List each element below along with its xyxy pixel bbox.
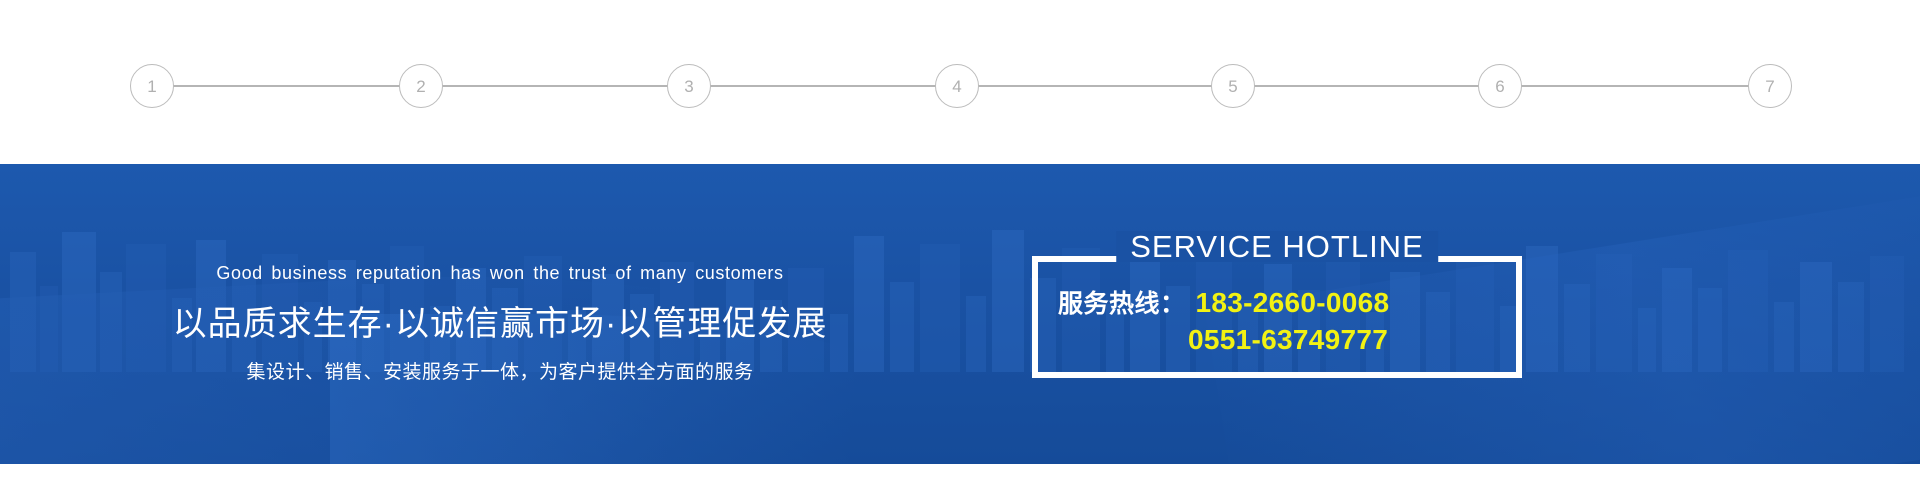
stepper-step-label: 4 [952, 78, 961, 95]
hotline-numbers: 服务热线： 183-2660-0068 0551-63749777 [1032, 284, 1522, 356]
hotline-number-secondary[interactable]: 0551-63749777 [1188, 324, 1388, 356]
stepper-step-2[interactable]: 2 [399, 64, 443, 108]
stepper-step-label: 3 [684, 78, 693, 95]
stepper-step-7[interactable]: 7 [1748, 64, 1792, 108]
promo-banner: Good business reputation has won the tru… [0, 164, 1920, 464]
stepper-step-label: 1 [147, 78, 156, 95]
hotline-row-secondary: 0551-63749777 [1058, 324, 1522, 356]
stepper-step-5[interactable]: 5 [1211, 64, 1255, 108]
page-root: 1 2 3 4 5 6 7 [0, 0, 1920, 500]
hotline-row-primary: 服务热线： 183-2660-0068 [1058, 284, 1522, 320]
stepper-step-3[interactable]: 3 [667, 64, 711, 108]
stepper-step-label: 7 [1765, 78, 1774, 95]
stepper-step-4[interactable]: 4 [935, 64, 979, 108]
hotline-number-primary[interactable]: 183-2660-0068 [1196, 287, 1390, 319]
service-hotline-box: SERVICE HOTLINE 服务热线： 183-2660-0068 0551… [1032, 256, 1522, 378]
hotline-title: SERVICE HOTLINE [1116, 231, 1438, 262]
stepper-step-label: 6 [1495, 78, 1504, 95]
hotline-label: 服务热线： [1058, 284, 1186, 320]
stepper-step-label: 5 [1228, 78, 1237, 95]
slogan-subtext: 集设计、销售、安装服务于一体，为客户提供全方面的服务 [246, 357, 753, 384]
stepper-step-6[interactable]: 6 [1478, 64, 1522, 108]
slogan-block: Good business reputation has won the tru… [0, 164, 1000, 464]
slogan-headline: 以品质求生存·以诚信赢市场·以管理促发展 [173, 296, 828, 345]
stepper-step-1[interactable]: 1 [130, 64, 174, 108]
stepper-step-label: 2 [416, 78, 425, 95]
stepper-bar: 1 2 3 4 5 6 7 [0, 0, 1920, 164]
slogan-english: Good business reputation has won the tru… [216, 263, 783, 284]
